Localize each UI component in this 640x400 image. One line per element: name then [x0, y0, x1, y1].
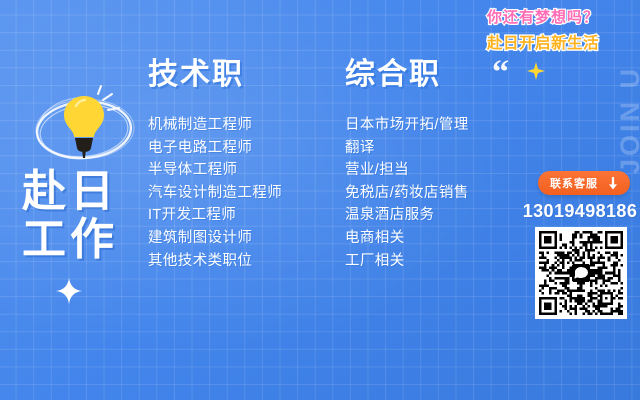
- column-title-general: 综合职: [345, 58, 545, 92]
- lightbulb-icon: [26, 82, 146, 174]
- brand-title-line-1: 赴日: [22, 168, 162, 216]
- list-item: 半导体工程师: [148, 159, 328, 182]
- contact-phone-number[interactable]: 13019498186: [520, 201, 640, 222]
- poster-root: 你还有梦想吗？ 赴日开启新生活 “ JOIN U: [0, 0, 640, 400]
- qr-code[interactable]: [535, 227, 627, 319]
- list-item: 汽车设计制造工程师: [148, 182, 328, 205]
- slogan-line-2: 赴日开启新生活: [458, 31, 628, 53]
- list-item: 电商相关: [345, 227, 545, 250]
- job-column-general: 综合职 日本市场开拓/管理 翻译 营业/担当 免税店/药妆店销售 温泉酒店服务 …: [345, 58, 545, 272]
- join-us-watermark: JOIN U: [615, 66, 640, 174]
- column-title-technical: 技术职: [148, 58, 328, 92]
- slogan-block: 你还有梦想吗？ 赴日开启新生活: [458, 6, 628, 53]
- list-item: 机械制造工程师: [148, 114, 328, 137]
- job-list-general: 日本市场开拓/管理 翻译 营业/担当 免税店/药妆店销售 温泉酒店服务 电商相关…: [345, 114, 545, 272]
- list-item: 其他技术类职位: [148, 250, 328, 273]
- list-item: 工厂相关: [345, 250, 545, 273]
- arrow-down-icon: [608, 177, 618, 190]
- list-item: 温泉酒店服务: [345, 204, 545, 227]
- brand-title-line-2: 工作: [22, 216, 162, 264]
- sparkle-icon: [56, 278, 82, 304]
- job-list-technical: 机械制造工程师 电子电路工程师 半导体工程师 汽车设计制造工程师 IT开发工程师…: [148, 114, 328, 272]
- slogan-line-1: 你还有梦想吗？: [458, 6, 628, 27]
- brand-title: 赴日 工作: [22, 168, 162, 264]
- job-column-technical: 技术职 机械制造工程师 电子电路工程师 半导体工程师 汽车设计制造工程师 IT开…: [148, 58, 328, 272]
- list-item: 日本市场开拓/管理: [345, 114, 545, 137]
- list-item: IT开发工程师: [148, 204, 328, 227]
- list-item: 电子电路工程师: [148, 137, 328, 160]
- contact-service-button-label: 联系客服: [550, 175, 598, 191]
- list-item: 免税店/药妆店销售: [345, 182, 545, 205]
- list-item: 营业/担当: [345, 159, 545, 182]
- contact-service-button[interactable]: 联系客服: [538, 171, 630, 195]
- list-item: 建筑制图设计师: [148, 227, 328, 250]
- list-item: 翻译: [345, 137, 545, 160]
